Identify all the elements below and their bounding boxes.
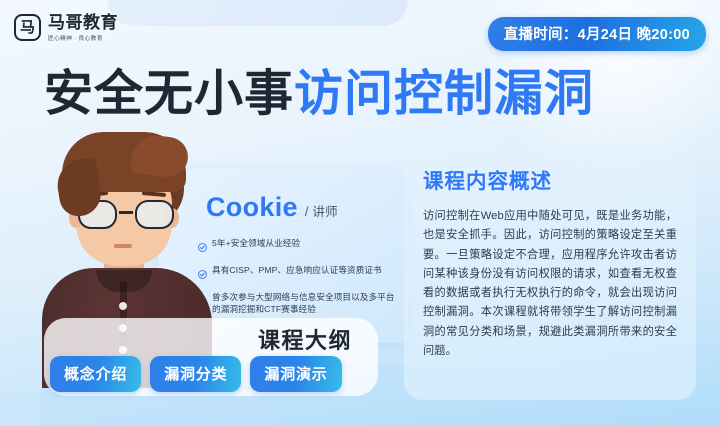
instructor-role: / 讲师 [305, 201, 338, 220]
instructor-credentials-list: 5年+安全领域从业经验 具有CISP、PMP、应急响应认证等资质证书 曾多次参与… [198, 238, 402, 315]
list-item: 具有CISP、PMP、应急响应认证等资质证书 [198, 265, 402, 284]
logo-mark-icon: 马 [14, 14, 41, 41]
course-overview-body: 访问控制在Web应用中随处可见，既是业务功能，也是安全抓手。因此，访问控制的策略… [423, 207, 677, 361]
list-item: 5年+安全领域从业经验 [198, 238, 402, 257]
outline-chip-classification[interactable]: 漏洞分类 [150, 356, 241, 392]
course-overview-title: 课程内容概述 [423, 164, 677, 194]
brand-tagline: 匠心精神 · 良心教育 [48, 33, 115, 42]
course-outline-title: 课程大纲 [258, 323, 352, 355]
credential-text: 5年+安全领域从业经验 [212, 238, 300, 250]
course-outline-panel: 课程大纲 概念介绍 漏洞分类 漏洞演示 [44, 318, 378, 396]
mouth-shape [114, 244, 132, 248]
instructor-name: Cookie [206, 194, 298, 221]
brand-logo: 马 马哥教育 匠心精神 · 良心教育 [14, 14, 118, 42]
credential-text: 具有CISP、PMP、应急响应认证等资质证书 [212, 265, 382, 277]
glasses-lens-right [135, 200, 174, 229]
course-overview-panel: 课程内容概述 访问控制在Web应用中随处可见，既是业务功能，也是安全抓手。因此，… [404, 144, 696, 400]
outline-chip-concept[interactable]: 概念介绍 [50, 356, 141, 392]
live-time-badge: 直播时间：4月24日 晚20:00 [488, 17, 706, 51]
course-outline-chips: 概念介绍 漏洞分类 漏洞演示 [50, 356, 342, 392]
list-item: 曾多次参与大型网络与信息安全项目以及多平台的漏洞挖掘和CTF赛事经验 [198, 292, 402, 315]
brand-name: 马哥教育 [48, 14, 118, 32]
page-title-accent: 访问控制漏洞 [294, 67, 594, 121]
logo-mark-glyph: 马 [20, 20, 35, 35]
outline-chip-demo[interactable]: 漏洞演示 [250, 356, 341, 392]
instructor-name-row: Cookie / 讲师 [206, 194, 338, 221]
decorative-top-panel [108, 0, 408, 26]
course-promo-poster: 马 马哥教育 匠心精神 · 良心教育 直播时间：4月24日 晚20:00 安全无… [0, 0, 720, 426]
brand-logo-text: 马哥教育 匠心精神 · 良心教育 [48, 14, 118, 42]
credential-text: 曾多次参与大型网络与信息安全项目以及多平台的漏洞挖掘和CTF赛事经验 [212, 292, 402, 315]
page-title: 安全无小事访问控制漏洞 [44, 66, 594, 122]
glasses-bridge [119, 211, 133, 214]
shirt-button [119, 302, 127, 310]
page-title-primary: 安全无小事 [44, 67, 294, 121]
